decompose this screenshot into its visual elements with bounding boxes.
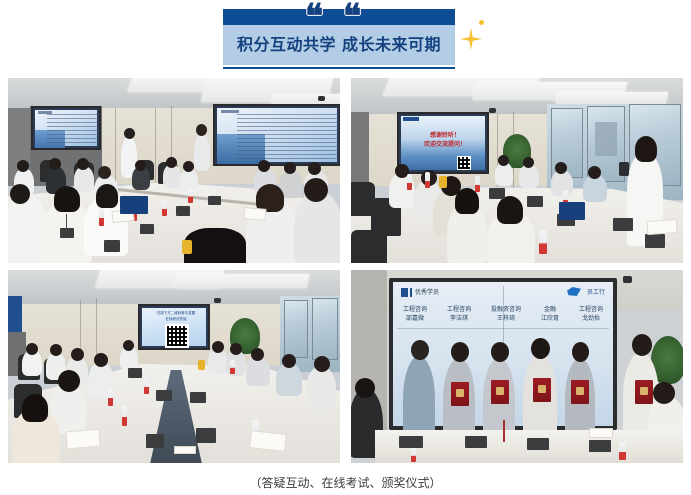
attendee-head bbox=[49, 158, 61, 170]
slide-logo bbox=[403, 117, 419, 121]
slide-thankyou-line2: 欢迎交流提问！ bbox=[399, 141, 489, 149]
slide-text-lines bbox=[47, 114, 99, 144]
beverage-cup bbox=[182, 240, 192, 254]
attendee-head bbox=[183, 161, 194, 172]
awardee-name: 王梓琦 bbox=[491, 313, 521, 322]
awardee-dept: 工程咨询 bbox=[403, 304, 427, 313]
attendee-head bbox=[555, 162, 567, 174]
attendee-head bbox=[523, 157, 534, 168]
photo-bottom-left-scene: 扫描下方二维码参与答题 在线考试开始 bbox=[8, 270, 340, 463]
water-bottle bbox=[122, 406, 127, 426]
seated-head bbox=[653, 382, 675, 404]
attendee-head bbox=[282, 354, 296, 368]
photo-bottom-left: 扫描下方二维码参与答题 在线考试开始 bbox=[8, 270, 340, 463]
microphone-base bbox=[128, 368, 142, 378]
banner-underline bbox=[223, 67, 455, 69]
wall-seam bbox=[155, 108, 156, 186]
recipient-head bbox=[451, 342, 469, 362]
seated-head bbox=[355, 378, 375, 398]
microphone-base bbox=[399, 436, 423, 448]
ceiling-light-panel bbox=[556, 92, 669, 104]
photo-bottom-right-scene: 优秀学员 员工行 工程咨询 邵嘉微 工程咨询 李洁琪 投融资咨询 bbox=[351, 270, 683, 463]
exam-screen-line1: 扫描下方二维码参与答题 bbox=[140, 311, 210, 315]
awardee-dept: 投融资咨询 bbox=[491, 304, 521, 313]
slide-thankyou-line1: 感谢聆听！ bbox=[399, 132, 489, 140]
document-sheet bbox=[589, 428, 613, 438]
attendee-head bbox=[314, 356, 330, 372]
microphone-base bbox=[613, 218, 633, 231]
attendee-head bbox=[308, 162, 321, 175]
photo-caption: （答疑互动、在线考试、颁奖仪式） bbox=[0, 474, 691, 491]
presentation-screen-left bbox=[31, 106, 101, 150]
microphone-base bbox=[645, 234, 665, 248]
standing-attendee-head bbox=[635, 136, 657, 162]
attendee-head bbox=[230, 343, 242, 355]
document-sheet bbox=[244, 207, 267, 221]
water-bottle bbox=[411, 448, 416, 462]
camera-icon bbox=[623, 276, 632, 283]
certificate bbox=[491, 380, 509, 404]
microphone-base bbox=[527, 196, 543, 207]
building-outside bbox=[595, 122, 617, 156]
exam-qr-code bbox=[165, 324, 189, 348]
microphone-base bbox=[465, 436, 487, 448]
attendee-head bbox=[94, 353, 108, 367]
microphone-base bbox=[156, 390, 172, 401]
attendee bbox=[306, 366, 336, 410]
exam-screen: 扫描下方二维码参与答题 在线考试开始 bbox=[138, 304, 210, 350]
certificate bbox=[533, 378, 551, 402]
camera-icon bbox=[318, 96, 325, 101]
microphone-base bbox=[527, 438, 549, 450]
photo-grid: 感谢聆听！ 欢迎交流提问！ bbox=[8, 78, 683, 463]
camera-icon bbox=[489, 108, 496, 113]
screen-logo-text: 员工行 bbox=[587, 287, 605, 296]
branded-folder bbox=[120, 196, 148, 214]
awardee-name: 江欣育 bbox=[541, 313, 559, 322]
foreground-head bbox=[497, 196, 523, 224]
awardee-dept: 金融 bbox=[541, 304, 559, 313]
water-bottle bbox=[475, 176, 480, 192]
screen-header-accent bbox=[410, 288, 412, 297]
attendee-head bbox=[284, 162, 296, 174]
ceiling-light-panel bbox=[175, 274, 310, 288]
microphone-base bbox=[146, 434, 164, 448]
foreground-head bbox=[22, 394, 48, 422]
awardee-name: 邵嘉微 bbox=[403, 313, 427, 322]
recipient-head bbox=[632, 334, 652, 356]
water-bottle bbox=[539, 230, 547, 254]
photo-top-right: 感谢聆听！ 欢迎交流提问！ bbox=[351, 78, 683, 263]
awardee-name: 戈劲怡 bbox=[579, 313, 603, 322]
awardee-name: 李洁琪 bbox=[447, 313, 471, 322]
attendee-head bbox=[50, 344, 62, 356]
slide-heading bbox=[38, 111, 52, 114]
window-pane bbox=[284, 300, 308, 358]
attendee-head bbox=[77, 158, 89, 170]
awardee-list: 工程咨询 邵嘉微 工程咨询 李洁琪 投融资咨询 王梓琦 金融 江欣育 bbox=[403, 304, 603, 322]
photo-top-right-scene: 感谢聆听！ 欢迎交流提问！ bbox=[351, 78, 683, 263]
foreground-head bbox=[58, 370, 80, 392]
flag-pole bbox=[503, 420, 505, 442]
water-bottle bbox=[230, 360, 235, 374]
exam-screen-line2: 在线考试开始 bbox=[140, 317, 210, 321]
screen-header-accent bbox=[401, 288, 408, 297]
awardee-entry: 金融 江欣育 bbox=[541, 304, 559, 322]
presenter-head bbox=[196, 124, 207, 136]
attendee-head bbox=[98, 166, 111, 179]
header-banner: ❝ ❝ 积分互动共学 成长未来可期 bbox=[223, 9, 455, 69]
recipient-head bbox=[531, 338, 550, 359]
awardee-entry: 投融资咨询 王梓琦 bbox=[491, 304, 521, 322]
four-point-star-icon bbox=[460, 28, 482, 50]
microphone-base bbox=[489, 188, 505, 199]
attendee-head bbox=[123, 340, 134, 351]
awardee-entry: 工程咨询 邵嘉微 bbox=[403, 304, 427, 322]
foreground-head bbox=[10, 184, 30, 204]
banner-top-bar bbox=[223, 9, 455, 25]
attendee-head bbox=[17, 160, 29, 172]
presentation-screen: 感谢聆听！ 欢迎交流提问！ bbox=[397, 112, 489, 174]
document-sheet bbox=[647, 219, 678, 235]
ceiling-light-panel bbox=[271, 94, 340, 104]
photo-top-left-scene bbox=[8, 78, 340, 263]
branded-folder bbox=[559, 202, 585, 220]
water-bottle bbox=[144, 378, 149, 394]
attendee-head bbox=[26, 343, 38, 355]
water-bottle bbox=[162, 200, 167, 216]
foreground-head bbox=[304, 178, 328, 202]
attendee-head bbox=[71, 348, 84, 361]
microphone-base bbox=[208, 196, 221, 205]
beverage-cup bbox=[198, 360, 205, 370]
attendee-head bbox=[135, 160, 146, 171]
attendee-head bbox=[251, 348, 264, 361]
attendee-head bbox=[212, 341, 224, 353]
recipient-head bbox=[491, 342, 509, 362]
slide-qr-code bbox=[457, 156, 471, 170]
water-bottle bbox=[108, 388, 113, 406]
water-bottle bbox=[407, 174, 412, 190]
microphone-base bbox=[196, 428, 216, 443]
sparkle-decoration bbox=[458, 18, 488, 58]
awardee-dept: 工程咨询 bbox=[447, 304, 471, 313]
sparkle-dot-icon bbox=[479, 20, 484, 25]
water-bottle bbox=[99, 208, 104, 226]
recipient-head bbox=[411, 340, 429, 360]
attendee-head bbox=[258, 160, 270, 172]
window-pane bbox=[312, 298, 338, 360]
water-bottle bbox=[619, 442, 626, 460]
foreground-head bbox=[96, 184, 118, 208]
awardee-entry: 工程咨询 李洁琪 bbox=[447, 304, 471, 322]
microphone-base bbox=[60, 228, 74, 238]
recipient-head bbox=[572, 342, 589, 362]
certificate bbox=[571, 380, 589, 404]
camera-icon bbox=[214, 298, 221, 303]
standing-presenter bbox=[194, 133, 210, 171]
page-title: 积分互动共学 成长未来可期 bbox=[223, 25, 455, 65]
microphone-stem bbox=[66, 214, 67, 230]
attendee-head bbox=[498, 155, 509, 166]
microphone-base bbox=[176, 206, 190, 216]
presenter-head bbox=[124, 128, 135, 139]
company-logo-icon bbox=[567, 287, 581, 296]
foreground-attendee bbox=[184, 228, 246, 263]
slide-text-lines bbox=[237, 114, 339, 162]
microphone-base bbox=[104, 240, 120, 252]
microphone-base bbox=[140, 224, 154, 234]
water-bottle bbox=[188, 188, 193, 203]
wall-seam bbox=[115, 108, 116, 186]
certificate bbox=[451, 382, 469, 406]
document-sheet bbox=[249, 430, 287, 452]
document-sheet bbox=[65, 429, 100, 450]
presentation-screen-right bbox=[213, 104, 340, 166]
beverage-cup bbox=[439, 176, 447, 188]
attendee-head bbox=[166, 157, 177, 168]
mobile-phone bbox=[619, 162, 629, 176]
microphone-base bbox=[589, 440, 611, 452]
slide-heading bbox=[221, 110, 239, 113]
attendee-head bbox=[588, 166, 601, 179]
foreground-head bbox=[54, 186, 80, 212]
microphone-base bbox=[190, 392, 206, 403]
water-bottle bbox=[425, 172, 430, 188]
screen-header-label: 优秀学员 bbox=[415, 287, 439, 296]
photo-top-left bbox=[8, 78, 340, 263]
awardee-entry: 工程咨询 戈劲怡 bbox=[579, 304, 603, 322]
wall-panel-dark bbox=[351, 112, 369, 192]
awardee-dept: 工程咨询 bbox=[579, 304, 603, 313]
screen-divider bbox=[397, 328, 609, 329]
side-screen bbox=[8, 296, 22, 336]
photo-bottom-right: 优秀学员 员工行 工程咨询 邵嘉微 工程咨询 李洁琪 投融资咨询 bbox=[351, 270, 683, 463]
chair bbox=[351, 230, 387, 263]
certificate bbox=[635, 380, 653, 404]
document-sheet bbox=[174, 446, 196, 454]
